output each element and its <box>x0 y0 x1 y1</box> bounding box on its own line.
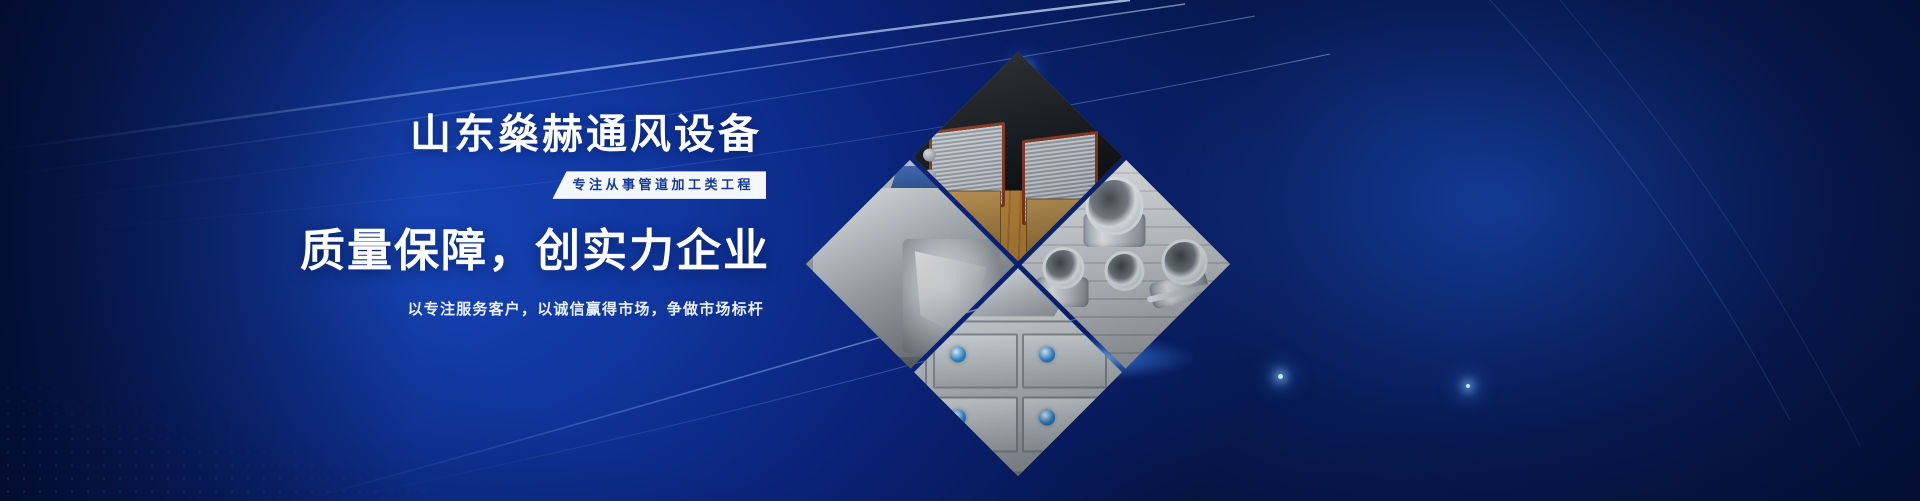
dot-grid-decoration <box>0 381 430 501</box>
banner-tagline: 以专注服务客户，以诚信赢得市场，争做市场标杆 <box>300 298 770 319</box>
diamond-photo-collage <box>806 52 1230 476</box>
spark-dot <box>1466 384 1470 388</box>
banner-title: 山东燊赫通风设备 <box>300 110 770 158</box>
hero-banner: 山东燊赫通风设备 专注从事管道加工类工程 质量保障，创实力企业 以专注服务客户，… <box>0 0 1920 501</box>
spark-dot <box>1278 374 1283 379</box>
banner-ribbon: 专注从事管道加工类工程 <box>552 171 766 199</box>
diamond-grid <box>806 52 1230 476</box>
banner-ribbon-wrap: 专注从事管道加工类工程 <box>300 171 770 199</box>
banner-text-block: 山东燊赫通风设备 专注从事管道加工类工程 质量保障，创实力企业 以专注服务客户，… <box>300 110 770 319</box>
banner-headline: 质量保障，创实力企业 <box>300 224 770 278</box>
